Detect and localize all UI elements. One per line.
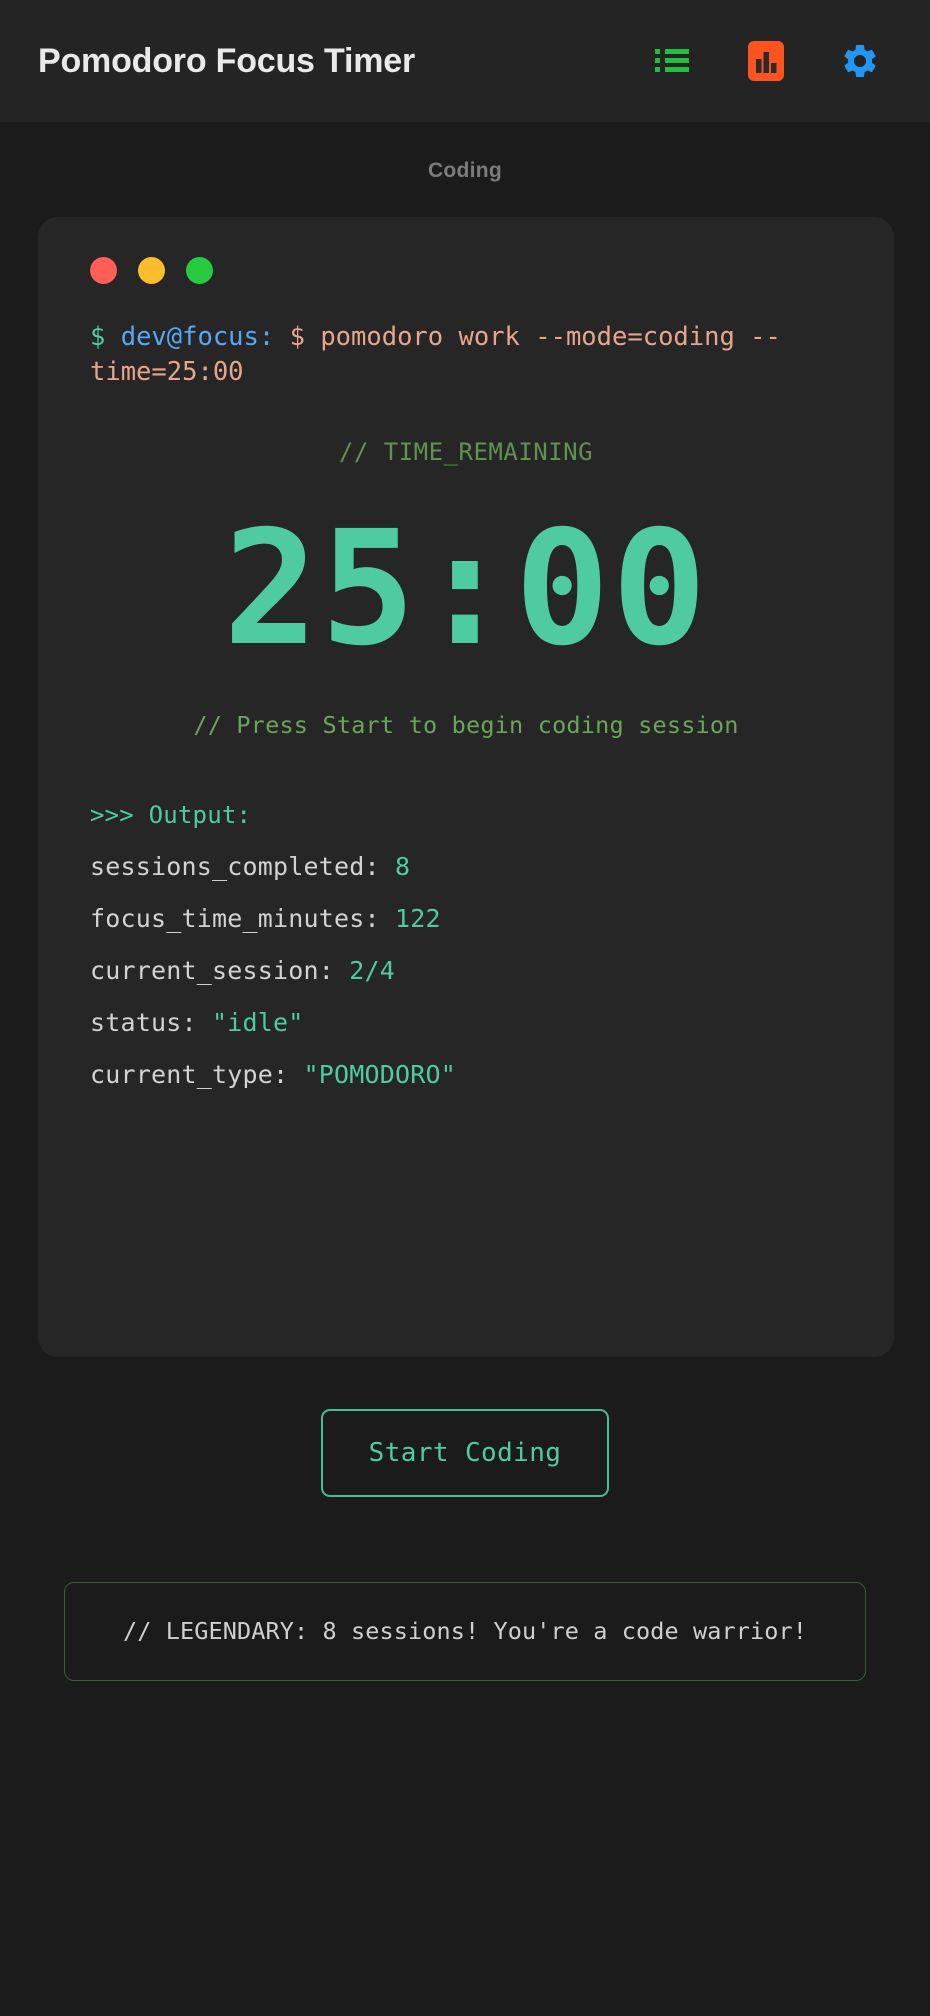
output-value: "idle": [212, 1008, 304, 1037]
output-value: "POMODORO": [304, 1060, 457, 1089]
terminal-command-line: $ dev@focus: $ pomodoro work --mode=codi…: [68, 320, 864, 390]
output-header: >>> Output:: [90, 801, 864, 829]
settings-button[interactable]: [838, 39, 882, 83]
output-key: status:: [90, 1008, 197, 1037]
mode-label: Coding: [0, 159, 930, 183]
bar-chart-icon: [748, 41, 784, 81]
header-actions: [650, 39, 882, 83]
prompt-user-host: dev@focus:: [121, 322, 275, 352]
gear-icon: [840, 41, 880, 81]
output-row: status: "idle": [90, 1008, 864, 1037]
output-value: 122: [395, 904, 441, 933]
app-header: Pomodoro Focus Timer: [0, 0, 930, 122]
output-key: sessions_completed:: [90, 852, 380, 881]
output-row: current_type: "POMODORO": [90, 1060, 864, 1089]
window-controls: [68, 245, 864, 284]
stats-button[interactable]: [744, 39, 788, 83]
output-row: current_session: 2/4: [90, 956, 864, 985]
output-value: 8: [395, 852, 410, 881]
prompt-symbol: $: [90, 322, 105, 352]
start-coding-button[interactable]: Start Coding: [321, 1409, 610, 1497]
maximize-dot[interactable]: [186, 257, 213, 284]
achievement-message: // LEGENDARY: 8 sessions! You're a code …: [64, 1582, 866, 1681]
time-remaining-label: // TIME_REMAINING: [68, 438, 864, 466]
output-value: 2/4: [349, 956, 395, 985]
minimize-dot[interactable]: [138, 257, 165, 284]
output-row: sessions_completed: 8: [90, 852, 864, 881]
list-icon: [655, 47, 689, 75]
close-dot[interactable]: [90, 257, 117, 284]
timer-hint: // Press Start to begin coding session: [68, 711, 864, 739]
terminal-card: $ dev@focus: $ pomodoro work --mode=codi…: [38, 217, 894, 1357]
timer-display: 25:00: [68, 496, 864, 682]
tasks-list-button[interactable]: [650, 39, 694, 83]
output-block: >>> Output: sessions_completed: 8 focus_…: [68, 801, 864, 1089]
controls: Start Coding: [0, 1409, 930, 1497]
output-row: focus_time_minutes: 122: [90, 904, 864, 933]
pomodoro-app: Pomodoro Focus Timer: [0, 0, 930, 2016]
page-title: Pomodoro Focus Timer: [38, 44, 415, 78]
output-key: current_session:: [90, 956, 334, 985]
output-key: focus_time_minutes:: [90, 904, 380, 933]
output-key: current_type:: [90, 1060, 288, 1089]
